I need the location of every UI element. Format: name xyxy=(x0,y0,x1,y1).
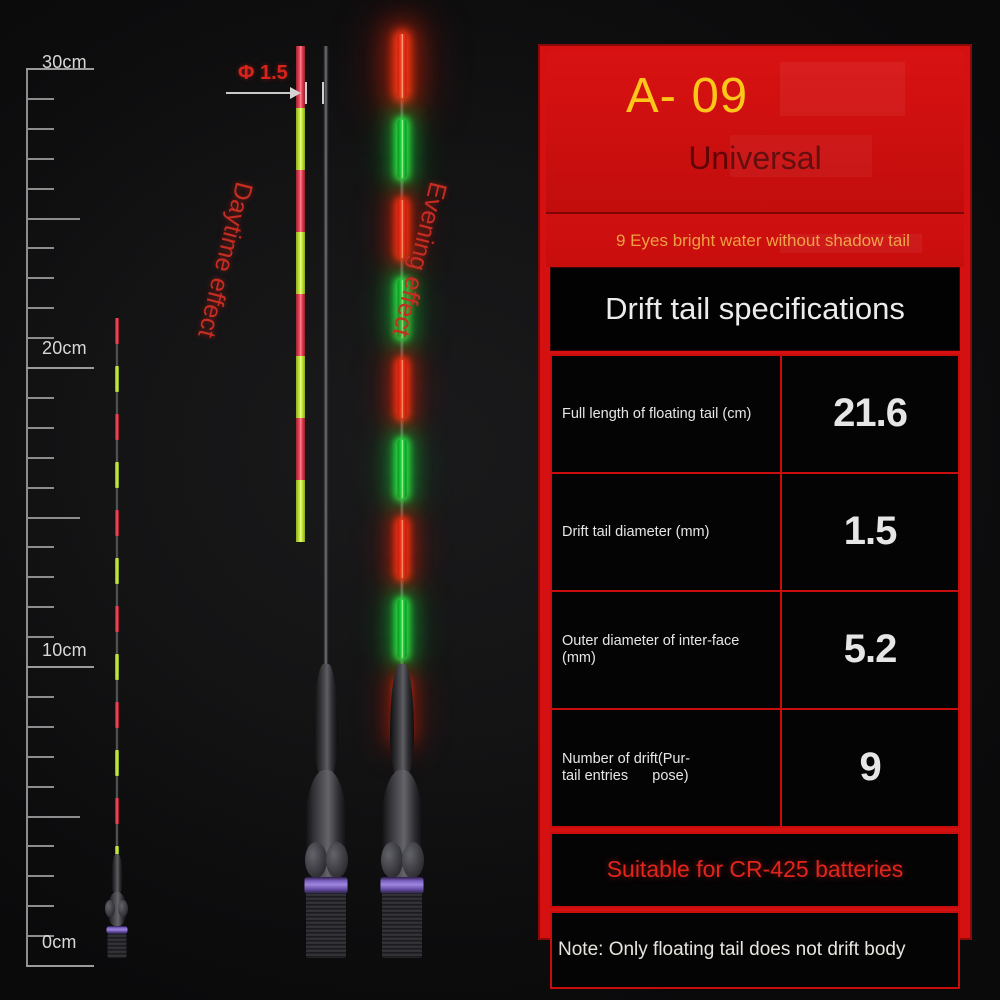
ruler-tick-27 xyxy=(26,158,54,160)
diameter-arrow-icon xyxy=(290,87,301,99)
band-2-red xyxy=(115,414,119,440)
spec-row: Number of drift(Pur-tail entries pose)9 xyxy=(551,709,959,827)
spec-row: Drift tail diameter (mm)1.5 xyxy=(551,473,959,591)
spec-row-key: Outer diameter of inter-face (mm) xyxy=(551,591,781,709)
band-1-grn xyxy=(296,108,305,170)
daytime-effect-label: Daytime effect xyxy=(191,179,258,341)
led-band-4-red xyxy=(398,360,407,418)
ruler-tick-25 xyxy=(26,218,80,220)
ruler-tick-8 xyxy=(26,726,54,728)
band-5-grn xyxy=(115,558,119,584)
spec-row: Outer diameter of inter-face (mm)5.2 xyxy=(551,591,959,709)
ruler-tick-2 xyxy=(26,905,54,907)
ruler-tick-11 xyxy=(26,636,54,638)
ruler-tick-6 xyxy=(26,786,54,788)
spec-row-value: 21.6 xyxy=(781,355,959,473)
diameter-leader-line xyxy=(226,92,292,94)
band-8-red xyxy=(115,702,119,728)
band-1-grn xyxy=(115,366,119,392)
specifications-table: Full length of floating tail (cm)21.6Dri… xyxy=(550,354,960,828)
ruler-label-0: 30cm xyxy=(42,52,87,73)
float-body xyxy=(100,854,134,958)
float-purple-ring xyxy=(381,877,424,894)
universal-label: Universal xyxy=(546,140,964,177)
spec-key-paren-1: (Pur- xyxy=(658,751,690,768)
band-9-grn xyxy=(115,750,119,776)
small-reference-float xyxy=(100,318,134,958)
diameter-bar-right xyxy=(322,82,324,104)
ruler-tick-26 xyxy=(26,188,54,190)
float-lobe-left xyxy=(381,842,403,878)
ruler-tick-3 xyxy=(26,875,54,877)
diameter-label: Φ 1.5 xyxy=(238,62,288,85)
ruler-tick-14 xyxy=(26,546,54,548)
ruler-tick-10 xyxy=(26,666,94,668)
ruler-tick-23 xyxy=(26,277,54,279)
panel-header: A- 09 Universal xyxy=(546,52,964,214)
float-purple-ring xyxy=(107,926,128,934)
band-3-grn xyxy=(296,232,305,294)
ruler-tick-17 xyxy=(26,457,54,459)
band-4-red xyxy=(296,294,305,356)
footer-note-text: Note: Only floating tail does not drift … xyxy=(558,939,905,961)
ruler-tick-28 xyxy=(26,128,54,130)
ruler-tick-7 xyxy=(26,756,54,758)
led-band-1-green xyxy=(398,120,407,178)
ruler-tick-20 xyxy=(26,367,94,369)
ruler-tick-0 xyxy=(26,965,94,967)
panel-subtitle: 9 Eyes bright water without shadow tail xyxy=(546,214,964,267)
footer-note: Note: Only floating tail does not drift … xyxy=(550,911,960,989)
ruler-tick-16 xyxy=(26,487,54,489)
band-2-red xyxy=(296,170,305,232)
float-purple-ring xyxy=(305,877,348,894)
band-7-grn xyxy=(115,654,119,680)
float-body xyxy=(296,664,356,958)
float-lobe-left xyxy=(305,842,327,878)
float-stem xyxy=(116,318,119,878)
spec-key-paren-2: pose) xyxy=(628,768,688,785)
band-5-grn xyxy=(296,356,305,418)
spec-key-part-1: Number of drift xyxy=(562,751,658,768)
float-threaded-base xyxy=(382,893,422,958)
ruler-tick-22 xyxy=(26,307,54,309)
float-lobe-right xyxy=(118,900,128,917)
float-lobe-right xyxy=(402,842,424,878)
band-4-red xyxy=(115,510,119,536)
specification-panel: A- 09 Universal 9 Eyes bright water with… xyxy=(538,44,972,940)
ruler-label-2: 10cm xyxy=(42,640,87,661)
ruler-tick-12 xyxy=(26,606,54,608)
spec-row-key: Full length of floating tail (cm) xyxy=(551,355,781,473)
spec-row-value: 5.2 xyxy=(781,591,959,709)
band-6-red xyxy=(115,606,119,632)
float-lobe-right xyxy=(326,842,348,878)
ruler-tick-13 xyxy=(26,576,54,578)
ruler-label-1: 20cm xyxy=(42,338,87,359)
daytime-float xyxy=(296,46,356,958)
spec-title-bar: Drift tail specifications xyxy=(550,267,960,351)
float-neck xyxy=(314,664,338,782)
ruler-tick-19 xyxy=(26,397,54,399)
battery-note: Suitable for CR-425 batteries xyxy=(550,832,960,908)
float-neck xyxy=(112,854,123,896)
ruler-tick-29 xyxy=(26,98,54,100)
spec-row-value: 1.5 xyxy=(781,473,959,591)
band-0-red xyxy=(115,318,119,344)
spec-row: Full length of floating tail (cm)21.6 xyxy=(551,355,959,473)
spec-row-value: 9 xyxy=(781,709,959,827)
float-lobe-left xyxy=(105,900,115,917)
spec-row-key: Number of drift(Pur-tail entries pose) xyxy=(551,709,781,827)
model-number: A- 09 xyxy=(626,68,748,124)
float-threaded-base xyxy=(108,934,127,958)
led-band-0-red xyxy=(398,34,407,98)
led-band-6-red xyxy=(398,520,407,578)
ruler-tick-4 xyxy=(26,845,54,847)
ruler-tick-24 xyxy=(26,247,54,249)
ruler-label-3: 0cm xyxy=(42,932,77,953)
spec-title-text: Drift tail specifications xyxy=(605,291,905,327)
evening-float xyxy=(372,34,432,958)
battery-note-text: Suitable for CR-425 batteries xyxy=(607,856,904,883)
float-stem xyxy=(324,46,329,686)
ruler-tick-5 xyxy=(26,816,80,818)
ruler-tick-15 xyxy=(26,517,80,519)
led-band-5-green xyxy=(398,440,407,498)
diameter-bar-left xyxy=(305,82,307,104)
ruler-tick-9 xyxy=(26,696,54,698)
band-10-red xyxy=(115,798,119,824)
float-body xyxy=(372,664,432,958)
led-band-7-green xyxy=(398,600,407,658)
band-7-grn xyxy=(296,480,305,542)
spec-key-part-2: tail entries xyxy=(562,768,628,785)
float-neck xyxy=(390,664,414,782)
ruler-tick-18 xyxy=(26,427,54,429)
float-threaded-base xyxy=(306,893,346,958)
spec-row-key: Drift tail diameter (mm) xyxy=(551,473,781,591)
band-3-grn xyxy=(115,462,119,488)
band-6-red xyxy=(296,418,305,480)
